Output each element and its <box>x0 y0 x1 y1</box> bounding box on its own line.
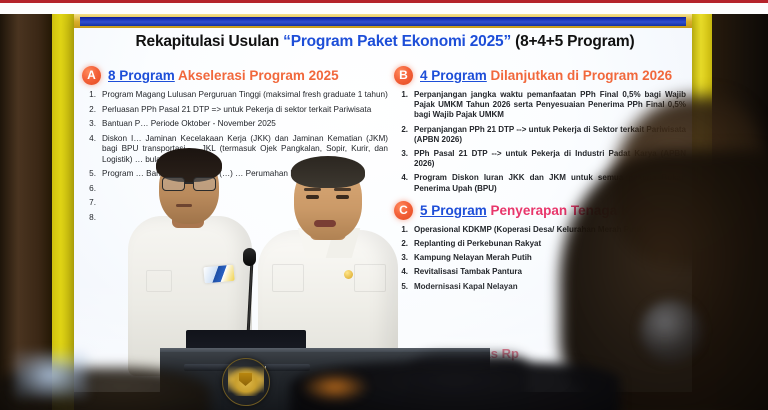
item-number: 1. <box>82 90 96 101</box>
section-badge-a: A <box>82 66 101 85</box>
item-text: Program Magang Lulusan Perguruan Tinggi … <box>102 90 388 101</box>
section-badge-b: B <box>394 66 413 85</box>
screenshot-frame: Rekapitulasi Usulan “Program Paket Ekono… <box>0 0 768 410</box>
eyeglasses-bridge <box>184 182 194 184</box>
section-b-header: B 4 Program Dilanjutkan di Program 2026 <box>394 66 686 85</box>
item-number: 7. <box>82 198 96 209</box>
list-item: 3.Bantuan P… Periode Oktober - November … <box>82 119 388 130</box>
item-text: Bantuan P… Periode Oktober - November 20… <box>102 119 388 130</box>
item-number: 3. <box>82 119 96 130</box>
eyeglasses-lens-left <box>162 177 185 191</box>
list-item: 2.Perluasan PPh Pasal 21 DTP => untuk Pe… <box>82 105 388 116</box>
section-a-header: A 8 Program Akselerasi Program 2025 <box>82 66 388 85</box>
item-number: 6. <box>82 184 96 195</box>
section-a-count: 8 Program <box>108 68 175 83</box>
wall-panel-left-yellow <box>52 12 74 410</box>
section-a-title: 8 Program Akselerasi Program 2025 <box>108 68 339 83</box>
speaker-left-pocket <box>146 270 172 292</box>
section-a-name: Akselerasi Program 2025 <box>178 68 339 83</box>
slide-title: Rekapitulasi Usulan “Program Paket Ekono… <box>88 33 682 51</box>
microphone-icon <box>243 248 256 266</box>
section-c-count: 5 Program <box>420 203 487 218</box>
speaker-right-eye-right <box>336 195 349 199</box>
item-text: Perluasan PPh Pasal 21 DTP => untuk Peke… <box>102 105 388 116</box>
top-red-band <box>0 0 768 3</box>
speaker-left-id-badge <box>203 265 234 284</box>
item-number: 1. <box>394 90 408 121</box>
item-number: 4. <box>82 134 96 166</box>
speaker-right-pocket-right <box>354 264 386 292</box>
speaker-left-mouth <box>176 204 192 207</box>
list-item: 1.Program Magang Lulusan Perguruan Tingg… <box>82 90 388 101</box>
eyeglasses-lens-right <box>193 177 216 191</box>
speaker-right-eye-left <box>306 195 319 199</box>
speaker-right-brow-right <box>334 188 351 191</box>
speaker-right-hair <box>291 156 365 188</box>
screen-blue-header-bar <box>80 17 686 26</box>
item-number: 2. <box>82 105 96 116</box>
lapel-pin-icon <box>344 270 353 279</box>
eyeglasses-icon <box>161 177 217 189</box>
section-b-title: 4 Program Dilanjutkan di Program 2026 <box>420 68 672 83</box>
section-b-count: 4 Program <box>420 68 487 83</box>
foreground-orange-glow <box>300 372 370 402</box>
top-white-band <box>0 3 768 14</box>
foreground-blue-panel <box>14 352 88 398</box>
speaker-right-brow-left <box>304 188 321 191</box>
slide-title-part-2: (8+4+5 Program) <box>511 33 634 50</box>
speaker-right-pocket-left <box>272 264 304 292</box>
slide-title-part-1: Rekapitulasi Usulan <box>136 33 284 50</box>
item-number: 5. <box>82 169 96 180</box>
section-b-name: Dilanjutkan di Program 2026 <box>491 68 673 83</box>
slide-title-quoted: “Program Paket Ekonomi 2025” <box>283 33 511 50</box>
wall-panel-left-dark <box>0 12 52 410</box>
item-number: 8. <box>82 213 96 224</box>
item-number: 2. <box>394 125 408 145</box>
camera-lens-blur <box>640 300 702 362</box>
garuda-emblem <box>222 358 270 406</box>
speaker-right-mouth <box>314 220 336 227</box>
